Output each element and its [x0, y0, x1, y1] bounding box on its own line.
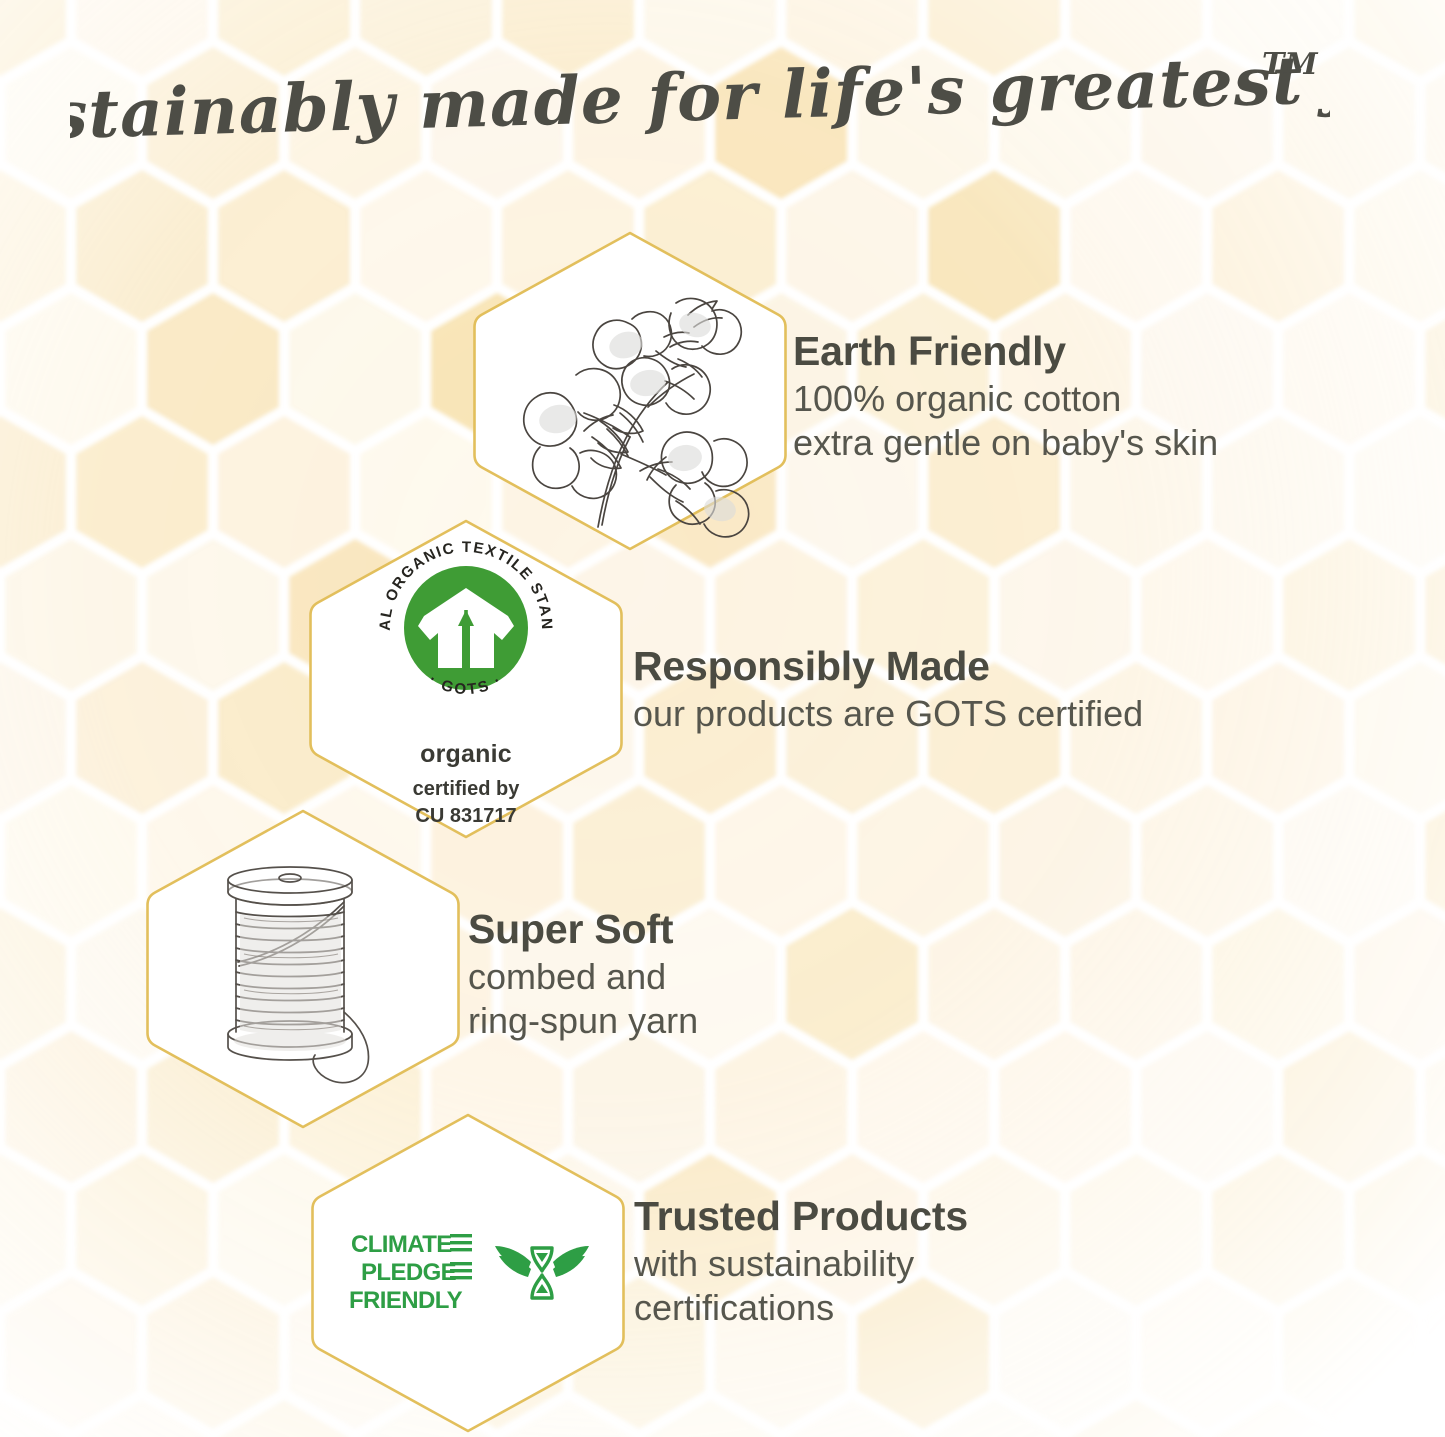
- feature-line: combed and: [468, 955, 698, 999]
- gots-certified-by: certified by: [413, 777, 520, 802]
- feature-text-super-soft: Super Soft combed and ring-spun yarn: [468, 908, 698, 1043]
- svg-text:FRIENDLY: FRIENDLY: [349, 1287, 463, 1314]
- headline-script-text: sustainably made for life's greatest joy…: [70, 44, 1330, 152]
- cotton-branch-icon: [480, 241, 780, 541]
- page-title: sustainably made for life's greatest joy…: [0, 44, 1400, 152]
- feature-title: Responsibly Made: [633, 645, 1143, 688]
- svg-text:sustainably made for life's gr: sustainably made for life's greatest joy: [70, 44, 1330, 152]
- feature-title: Trusted Products: [634, 1195, 968, 1238]
- gots-badge: GLOBAL ORGANIC TEXTILE STANDARD · GOTS ·…: [368, 530, 564, 829]
- feature-line: ring-spun yarn: [468, 999, 698, 1043]
- feature-text-earth-friendly: Earth Friendly 100% organic cotton extra…: [793, 330, 1218, 465]
- svg-text:PLEDGE: PLEDGE: [361, 1259, 457, 1286]
- feature-title: Earth Friendly: [793, 330, 1218, 373]
- feature-hex-trusted-products: CLIMATE PLEDGE FRIENDLY: [305, 1110, 631, 1436]
- feature-hex-super-soft: [140, 806, 466, 1132]
- climate-pledge-wordmark: CLIMATE PLEDGE FRIENDLY: [347, 1230, 475, 1316]
- feature-line: 100% organic cotton: [793, 377, 1218, 421]
- climate-pledge-friendly-logo: CLIMATE PLEDGE FRIENDLY: [347, 1230, 589, 1316]
- feature-hex-responsibly-made: GLOBAL ORGANIC TEXTILE STANDARD · GOTS ·…: [303, 516, 629, 842]
- winged-hourglass-icon: [495, 1234, 589, 1312]
- svg-text:CLIMATE: CLIMATE: [351, 1231, 452, 1258]
- feature-line: with sustainability: [634, 1242, 968, 1286]
- gots-organic-label: organic: [420, 740, 512, 769]
- feature-line: certifications: [634, 1286, 968, 1330]
- thread-spool-icon: [178, 844, 428, 1094]
- svg-text:TM: TM: [1262, 47, 1318, 82]
- feature-line: our products are GOTS certified: [633, 692, 1143, 736]
- feature-text-responsibly-made: Responsibly Made our products are GOTS c…: [633, 645, 1143, 736]
- infographic-canvas: sustainably made for life's greatest joy…: [0, 0, 1445, 1437]
- feature-text-trusted-products: Trusted Products with sustainability cer…: [634, 1195, 968, 1330]
- gots-seal-icon: GLOBAL ORGANIC TEXTILE STANDARD · GOTS ·: [368, 530, 564, 726]
- feature-line: extra gentle on baby's skin: [793, 421, 1218, 465]
- feature-title: Super Soft: [468, 908, 698, 951]
- feature-hex-earth-friendly: [467, 228, 793, 554]
